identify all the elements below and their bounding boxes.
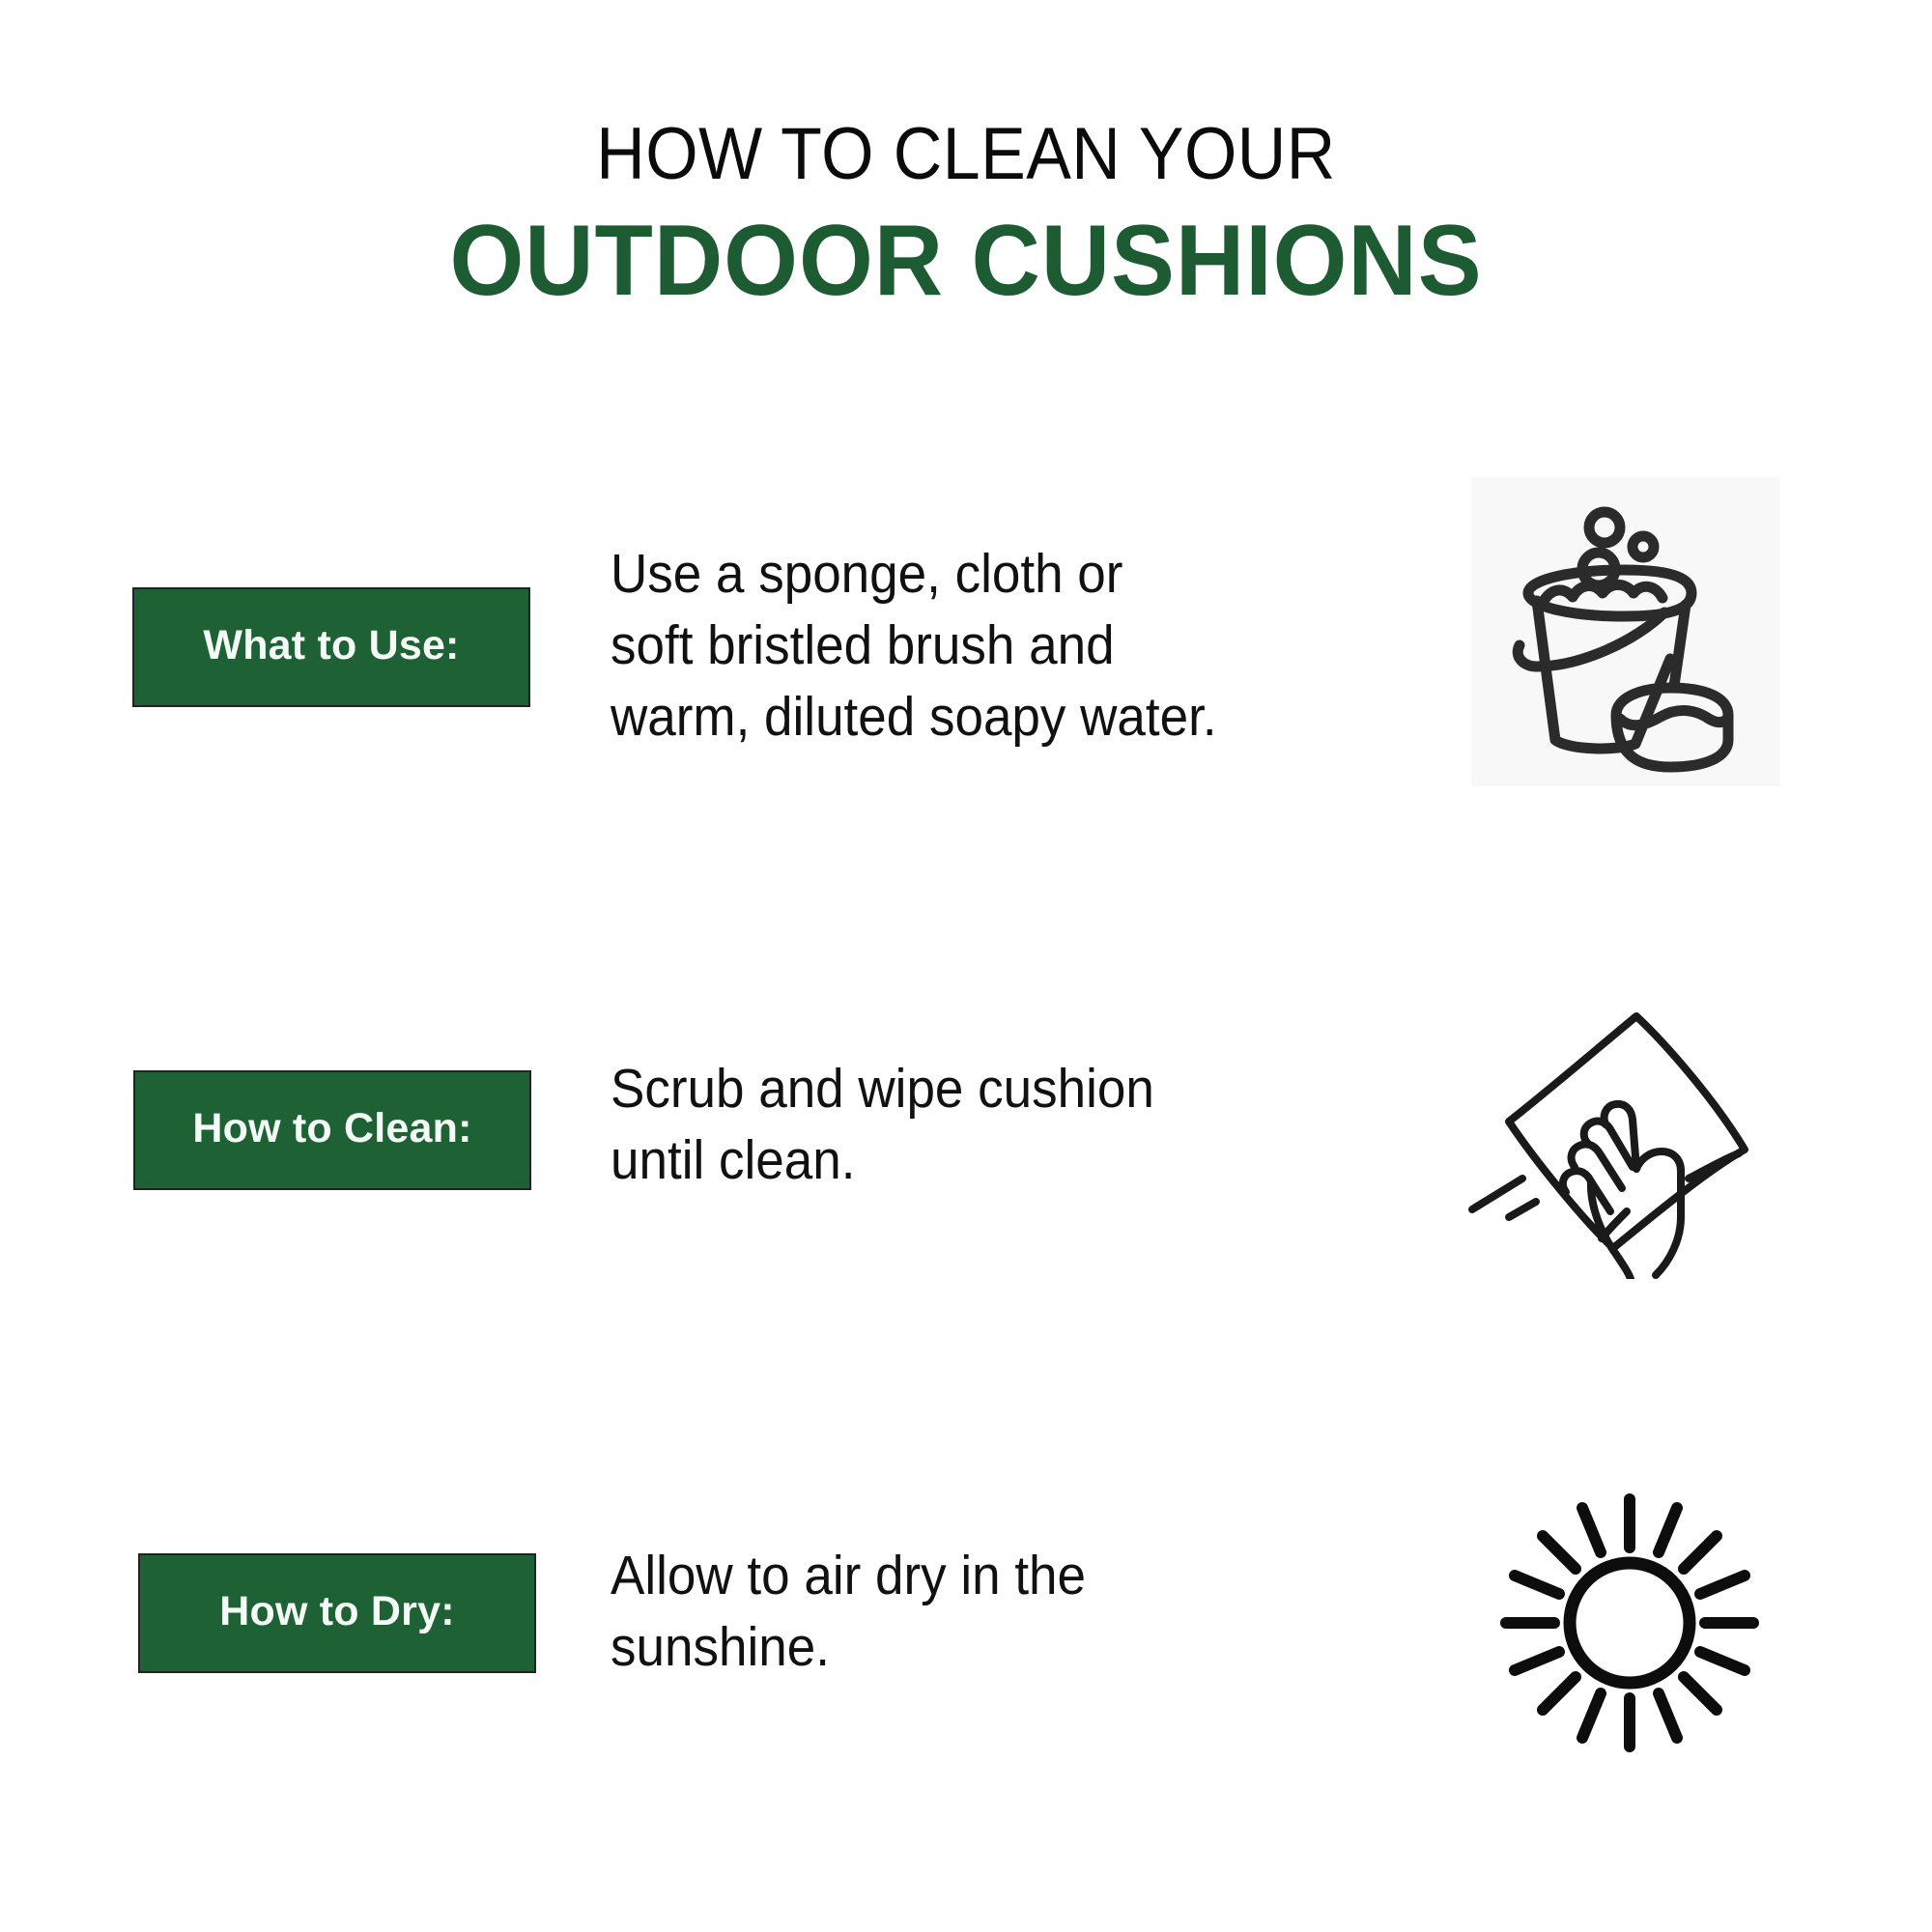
sun-icon [1485, 1478, 1775, 1768]
text-cell-3: Allow to air dry in the sunshine. [599, 1540, 1362, 1683]
step-body-how-to-clean: Scrub and wipe cushion until clean. [611, 1053, 1310, 1196]
icon-cell-1 [1341, 477, 1911, 786]
step-badge-how-to-dry: How to Dry: [138, 1553, 536, 1673]
text-cell-2: Scrub and wipe cushion until clean. [599, 1053, 1362, 1196]
page-header: HOW TO CLEAN YOUR OUTDOOR CUSHIONS [0, 0, 1932, 311]
badge-cell-3: How to Dry: [0, 1553, 599, 1673]
hand-wiping-cloth-icon [1466, 989, 1766, 1279]
step-badge-how-to-clean: How to Clean: [133, 1070, 531, 1190]
badge-cell-2: How to Clean: [0, 1070, 599, 1190]
step-row-how-to-clean: How to Clean: Scrub and wipe cushion unt… [0, 889, 1932, 1372]
step-body-what-to-use: Use a sponge, cloth or soft bristled bru… [611, 538, 1310, 753]
step-row-how-to-dry: How to Dry: Allow to air dry in the suns… [0, 1372, 1932, 1855]
icon-cell-2 [1331, 980, 1901, 1289]
text-cell-1: Use a sponge, cloth or soft bristled bru… [599, 538, 1362, 753]
page-title-line-1: HOW TO CLEAN YOUR [77, 118, 1855, 191]
icon-tile-1 [1471, 477, 1780, 786]
icon-tile-3 [1475, 1468, 1784, 1777]
page-title-line-2: OUTDOOR CUSHIONS [48, 211, 1884, 311]
steps-list: What to Use: Use a sponge, cloth or soft… [0, 406, 1932, 1855]
badge-cell-1: What to Use: [0, 587, 599, 707]
infographic-page: HOW TO CLEAN YOUR OUTDOOR CUSHIONS What … [0, 0, 1932, 1932]
step-badge-what-to-use: What to Use: [132, 587, 530, 707]
step-body-how-to-dry: Allow to air dry in the sunshine. [611, 1540, 1310, 1683]
bucket-with-suds-and-sponge-icon [1481, 487, 1771, 777]
icon-cell-3 [1345, 1468, 1915, 1777]
icon-tile-2 [1462, 980, 1771, 1289]
step-row-what-to-use: What to Use: Use a sponge, cloth or soft… [0, 406, 1932, 889]
